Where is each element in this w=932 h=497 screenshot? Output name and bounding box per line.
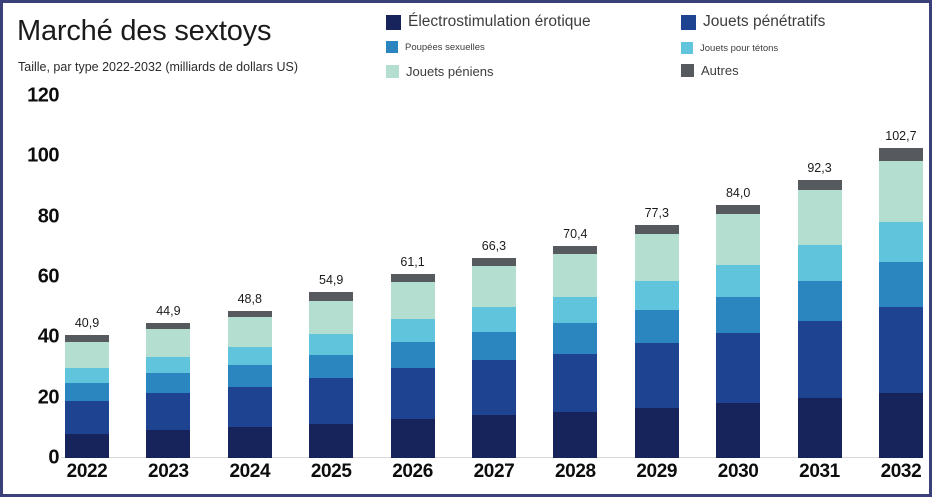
bar-segment[interactable] [553,297,597,324]
page-title: Marché des sextoys [17,15,271,48]
bar-segment[interactable] [228,317,272,347]
y-axis-tick: 80 [38,205,59,228]
bar-segment[interactable] [65,368,109,383]
bar-total-label: 48,8 [238,292,262,306]
bar-segment[interactable] [553,323,597,353]
bar-segment[interactable] [635,310,679,343]
bar-segment[interactable] [798,245,842,281]
legend-label: Autres [701,63,739,78]
bar-segment[interactable] [146,430,190,458]
legend-swatch [681,42,693,54]
bar-total-label: 66,3 [482,239,506,253]
bar-segment[interactable] [309,378,353,424]
legend-swatch [386,15,401,30]
stacked-bar [879,148,923,458]
bar-column[interactable]: 61,1 [391,96,435,458]
bar-column[interactable]: 40,9 [65,96,109,458]
stacked-bar [65,335,109,458]
bar-segment[interactable] [472,258,516,266]
legend-item-poupees-sexuelles[interactable]: Poupées sexuelles [386,41,485,53]
bar-column[interactable]: 54,9 [309,96,353,458]
bar-segment[interactable] [391,282,435,319]
bar-segment[interactable] [635,408,679,458]
bar-column[interactable]: 77,3 [635,96,679,458]
bar-segment[interactable] [391,274,435,282]
bar-column[interactable]: 92,3 [798,96,842,458]
bar-segment[interactable] [228,311,272,318]
legend-label: Jouets péniens [406,64,493,79]
x-axis-tick: 2032 [879,461,923,491]
bar-total-label: 77,3 [645,206,669,220]
stacked-bar [716,205,760,458]
bar-segment[interactable] [553,412,597,458]
bar-segment[interactable] [309,301,353,334]
bar-total-label: 92,3 [807,161,831,175]
bar-segment[interactable] [879,307,923,393]
bar-segment[interactable] [228,347,272,365]
bar-segment[interactable] [391,342,435,368]
bar-segment[interactable] [391,319,435,342]
y-axis: 020406080100120 [9,91,59,458]
bar-column[interactable]: 44,9 [146,96,190,458]
bars-container: 40,944,948,854,961,166,370,477,384,092,3… [65,96,923,458]
bar-segment[interactable] [553,246,597,254]
bar-segment[interactable] [798,398,842,458]
chart-frame: Marché des sextoys Taille, par type 2022… [0,0,932,497]
chart-legend: Électrostimulation érotique Poupées sexu… [386,11,926,85]
bar-segment[interactable] [635,281,679,310]
y-axis-tick: 120 [27,85,59,108]
bar-total-label: 70,4 [563,227,587,241]
legend-label: Jouets pour tétons [700,43,778,54]
bar-segment[interactable] [472,415,516,458]
legend-swatch [386,65,399,78]
bar-segment[interactable] [879,148,923,161]
x-axis-tick: 2027 [472,461,516,491]
x-axis-tick: 2025 [309,461,353,491]
bar-total-label: 61,1 [400,255,424,269]
legend-label: Électrostimulation érotique [408,13,591,31]
stacked-bar [472,258,516,458]
bar-column[interactable]: 70,4 [553,96,597,458]
legend-item-jouets-pour-tetons[interactable]: Jouets pour tétons [681,42,778,54]
bar-segment[interactable] [146,329,190,356]
bar-segment[interactable] [472,307,516,332]
bar-segment[interactable] [635,234,679,281]
legend-item-autres[interactable]: Autres [681,63,739,78]
bar-segment[interactable] [798,190,842,245]
legend-label: Jouets pénétratifs [703,13,825,31]
legend-swatch [681,15,696,30]
bar-segment[interactable] [228,387,272,428]
bar-total-label: 102,7 [885,129,916,143]
bar-segment[interactable] [716,333,760,403]
stacked-bar [228,311,272,458]
bar-segment[interactable] [716,403,760,458]
x-axis-labels: 2022202320242025202620272028202920302031… [65,461,923,491]
bar-segment[interactable] [228,365,272,386]
stacked-bar [798,180,842,458]
legend-swatch [681,64,694,77]
bar-segment[interactable] [309,424,353,458]
chart-subtitle: Taille, par type 2022-2032 (milliards de… [18,60,298,74]
bar-total-label: 84,0 [726,186,750,200]
bar-segment[interactable] [879,161,923,223]
stacked-bar [146,323,190,458]
legend-swatch [386,41,398,53]
bar-segment[interactable] [798,281,842,321]
x-axis-tick: 2029 [635,461,679,491]
x-axis-tick: 2031 [798,461,842,491]
legend-item-electrostimulation[interactable]: Électrostimulation érotique [386,13,591,31]
bar-segment[interactable] [65,401,109,434]
bar-segment[interactable] [716,205,760,215]
x-axis-tick: 2024 [228,461,272,491]
bar-segment[interactable] [65,342,109,368]
y-axis-tick: 40 [38,326,59,349]
legend-item-jouets-penetratifs[interactable]: Jouets pénétratifs [681,13,825,31]
bar-segment[interactable] [309,355,353,378]
bar-segment[interactable] [553,354,597,412]
y-axis-tick: 0 [48,447,59,470]
bar-column[interactable]: 48,8 [228,96,272,458]
bar-segment[interactable] [146,393,190,430]
legend-label: Poupées sexuelles [405,42,485,53]
bar-segment[interactable] [716,214,760,264]
bar-segment[interactable] [798,180,842,191]
stacked-bar [635,225,679,458]
x-axis-tick: 2022 [65,461,109,491]
bar-segment[interactable] [228,427,272,458]
bar-column[interactable]: 102,7 [879,96,923,458]
bar-total-label: 54,9 [319,273,343,287]
bar-segment[interactable] [635,343,679,407]
bar-segment[interactable] [146,323,190,330]
bar-segment[interactable] [879,262,923,306]
stacked-bar [553,246,597,458]
bar-segment[interactable] [65,383,109,401]
bar-column[interactable]: 66,3 [472,96,516,458]
bar-segment[interactable] [716,297,760,333]
bar-segment[interactable] [391,368,435,419]
bar-segment[interactable] [472,332,516,360]
bar-segment[interactable] [716,265,760,297]
x-axis-tick: 2028 [553,461,597,491]
x-axis-tick: 2026 [391,461,435,491]
plot-area: 020406080100120 40,944,948,854,961,166,3… [65,91,923,458]
bar-segment[interactable] [309,334,353,354]
bar-segment[interactable] [879,393,923,458]
bar-total-label: 40,9 [75,316,99,330]
x-axis-tick: 2023 [146,461,190,491]
bar-segment[interactable] [146,373,190,393]
bar-total-label: 44,9 [156,304,180,318]
bar-segment[interactable] [391,419,435,458]
bar-segment[interactable] [472,360,516,415]
bar-column[interactable]: 84,0 [716,96,760,458]
bar-segment[interactable] [553,254,597,297]
x-axis-tick: 2030 [716,461,760,491]
bar-segment[interactable] [65,335,109,342]
y-axis-tick: 60 [38,266,59,289]
bar-segment[interactable] [65,434,109,458]
bar-segment[interactable] [798,321,842,398]
bar-segment[interactable] [472,266,516,306]
bar-segment[interactable] [146,357,190,374]
y-axis-tick: 100 [27,145,59,168]
bar-segment[interactable] [879,222,923,262]
bar-segment[interactable] [635,225,679,234]
y-axis-tick: 20 [38,386,59,409]
bar-segment[interactable] [309,292,353,301]
legend-item-jouets-peniens[interactable]: Jouets péniens [386,64,493,79]
stacked-bar [391,274,435,458]
stacked-bar [309,292,353,458]
